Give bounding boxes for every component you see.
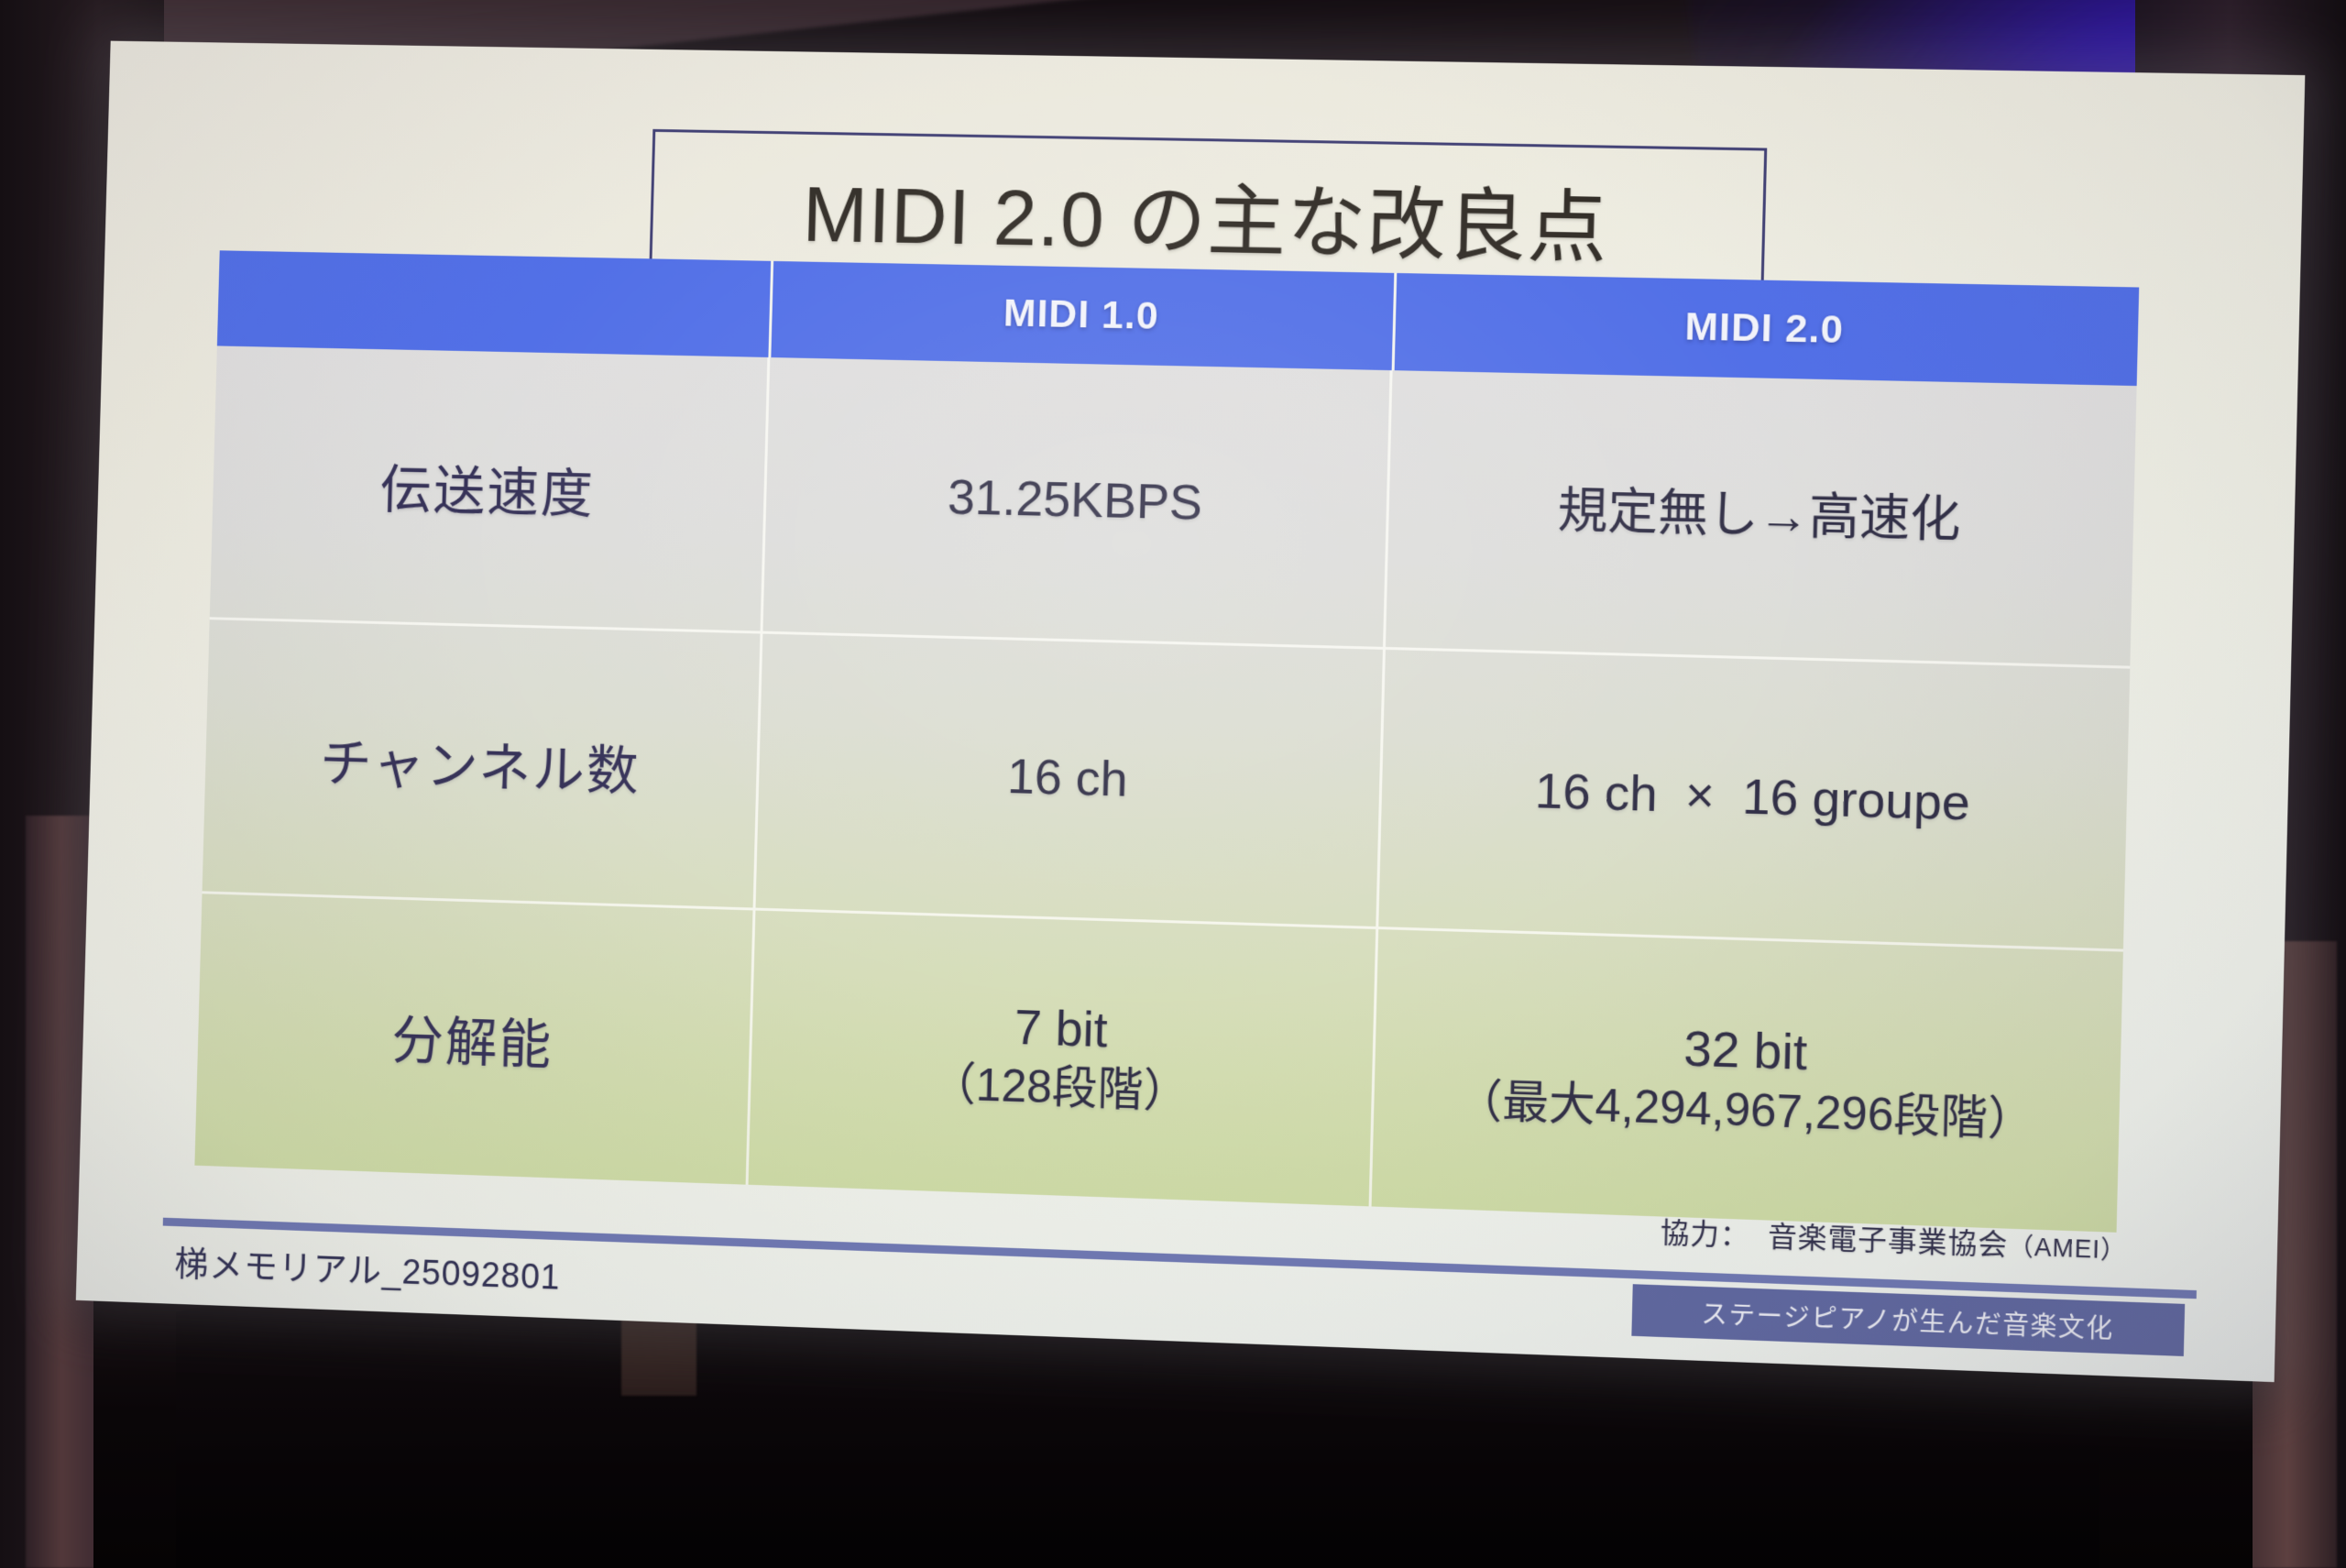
projection-screen: MIDI 2.0 の主な改良点 MIDI 1.0 MIDI 2.0 伝送速度 3… [76, 41, 2306, 1383]
cell-midi1-transfer-speed: 31.25KBPS [763, 357, 1393, 647]
value-text: 31.25KBPS [947, 468, 1202, 534]
row-label-transfer-speed: 伝送速度 [379, 447, 596, 528]
credit-label: 協力： [1661, 1216, 1751, 1252]
slide-title: MIDI 2.0 の主な改良点 [802, 149, 1610, 279]
comparison-table: MIDI 1.0 MIDI 2.0 伝送速度 31.25KBPS 規定無し→高速… [194, 250, 2139, 1233]
table-row: 伝送速度 31.25KBPS 規定無し→高速化 [209, 345, 2136, 668]
table-header-midi2: MIDI 2.0 [1395, 273, 2139, 386]
row-label-channel-count: チャンネル数 [319, 720, 641, 806]
value-text: 16 ch [1006, 748, 1128, 811]
multiply-icon: × [1684, 768, 1716, 824]
credit-abbreviation: （AMEI） [2008, 1232, 2128, 1264]
table-header-blank [217, 250, 774, 356]
cell-midi2-transfer-speed: 規定無し→高速化 [1386, 370, 2137, 666]
row-label-cell: チャンネル数 [202, 620, 762, 908]
value-part-a: 16 ch [1534, 763, 1658, 822]
value-text: 規定無し→高速化 [1557, 482, 1961, 553]
value-part-b: 16 groupe [1741, 769, 1970, 831]
cell-midi2-channel-count: 16 ch×16 groupe [1378, 650, 2130, 949]
value-text: 16 ch×16 groupe [1534, 762, 1970, 835]
value-text: 7 bit（128段階） [930, 995, 1191, 1120]
value-main: 7 bit [931, 995, 1191, 1064]
footer-section-label: ステージピアノが生んだ音楽文化 [1701, 1294, 2114, 1346]
cell-midi1-resolution: 7 bit（128段階） [749, 910, 1378, 1206]
table-header-midi1: MIDI 1.0 [772, 261, 1398, 370]
footer-deck-id: 梯メモリアル_25092801 [174, 1235, 562, 1299]
cell-midi1-channel-count: 16 ch [756, 633, 1386, 927]
cell-midi2-resolution: 32 bit（最大4,294,967,296段階） [1371, 929, 2122, 1233]
value-sub: （128段階） [930, 1056, 1190, 1120]
presentation-slide: MIDI 2.0 の主な改良点 MIDI 1.0 MIDI 2.0 伝送速度 3… [76, 41, 2306, 1383]
table-body: 伝送速度 31.25KBPS 規定無し→高速化 チャンネル数 [194, 345, 2136, 1233]
row-label-cell: 分解能 [194, 894, 756, 1185]
table-row: 分解能 7 bit（128段階） 32 bit（最大4,294,967,296段… [194, 894, 2122, 1233]
credit-organization: 音楽電子事業協会 [1768, 1220, 2009, 1261]
projection-screen-wrapper: MIDI 2.0 の主な改良点 MIDI 1.0 MIDI 2.0 伝送速度 3… [71, 57, 2271, 1340]
row-label-resolution: 分解能 [391, 998, 554, 1080]
value-text: 32 bit（最大4,294,967,296段階） [1455, 1012, 2036, 1148]
row-label-cell: 伝送速度 [209, 345, 770, 630]
